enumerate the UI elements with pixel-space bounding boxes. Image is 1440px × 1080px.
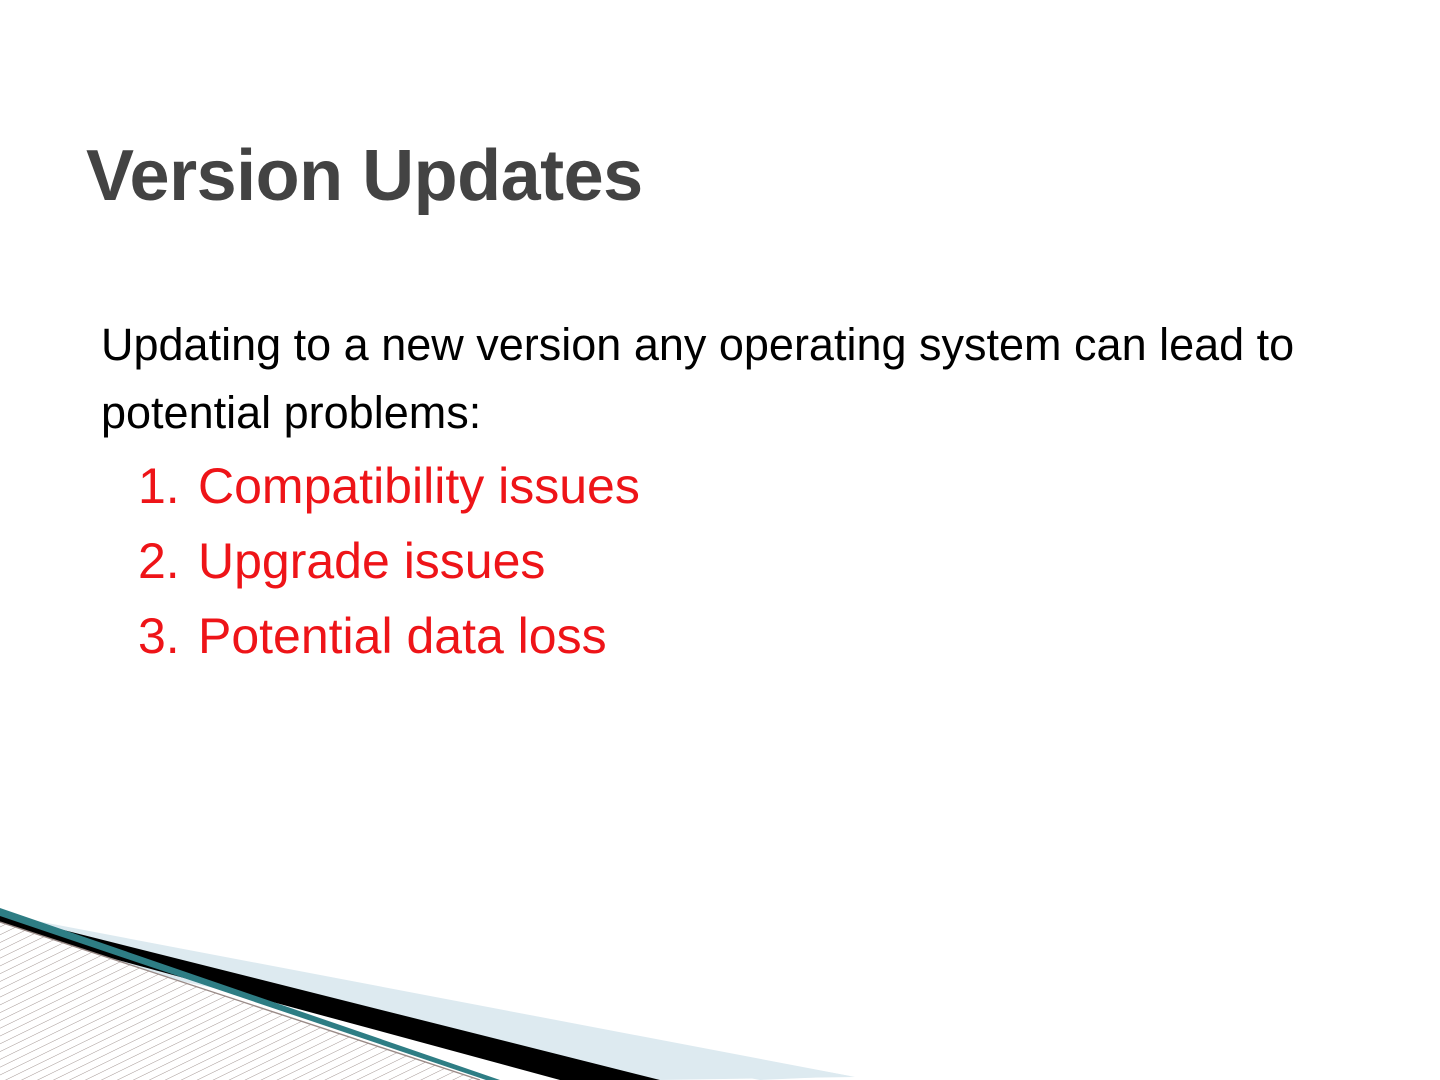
slide-canvas: Version Updates Updating to a new versio…	[0, 0, 1440, 1080]
decoration-hatch-border	[0, 922, 480, 1080]
decoration-black-wedge	[0, 914, 660, 1080]
list-item-label: Potential data loss	[198, 608, 607, 664]
page-title: Version Updates	[86, 140, 643, 212]
list-item-number: 2.	[138, 524, 198, 599]
list-item: 3.Potential data loss	[138, 599, 640, 674]
decoration-lightblue-band	[0, 914, 850, 1080]
numbered-list: 1.Compatibility issues 2.Upgrade issues …	[138, 449, 640, 674]
list-item: 1.Compatibility issues	[138, 449, 640, 524]
list-item-number: 3.	[138, 599, 198, 674]
decoration-lightblue-band-fill	[0, 920, 855, 1080]
decoration-hatch-fill	[0, 880, 900, 1080]
body-paragraph: Updating to a new version any operating …	[101, 311, 1311, 448]
decoration-teal-line	[0, 908, 500, 1080]
decoration-hatch-lines	[0, 880, 900, 1080]
list-item-number: 1.	[138, 449, 198, 524]
list-item-label: Compatibility issues	[198, 458, 640, 514]
list-item-label: Upgrade issues	[198, 533, 545, 589]
list-item: 2.Upgrade issues	[138, 524, 640, 599]
corner-decoration-graphic	[0, 880, 900, 1080]
